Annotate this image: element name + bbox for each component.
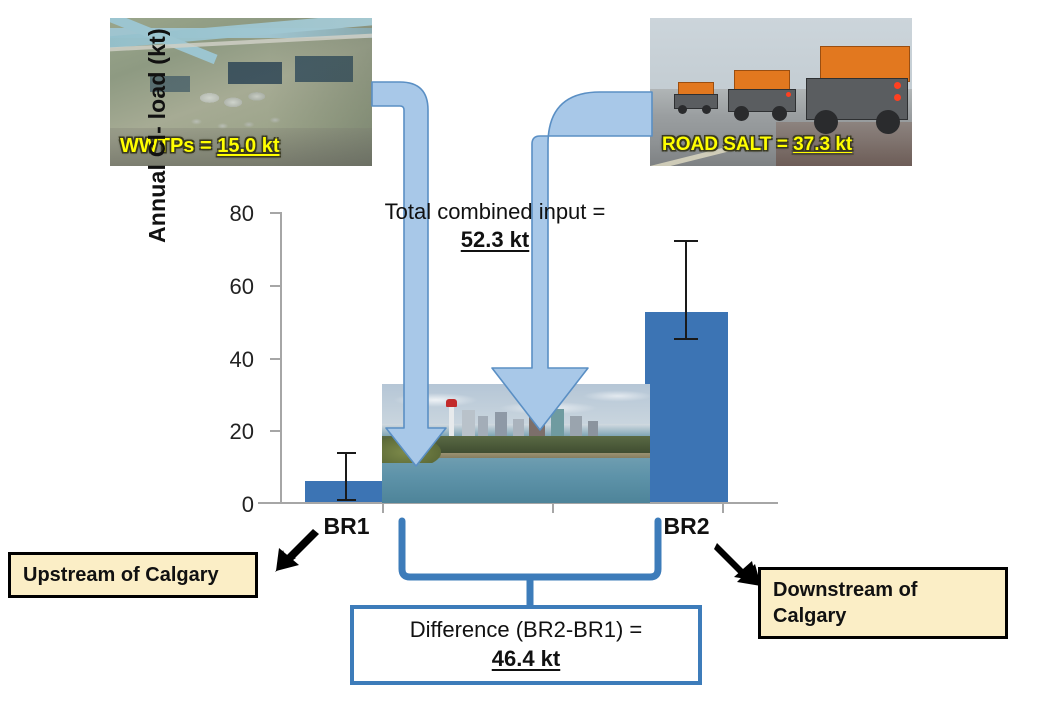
salt-truck-middle [726,70,798,122]
left-foliage-shape [382,436,441,462]
calgary-tower [449,406,454,436]
error-cap-br2-top [674,240,698,242]
calgary-skyline-photo [382,384,650,503]
y-axis-label: Annual Cl- load (kt) [144,23,171,243]
road-salt-caption-prefix: ROAD SALT = [662,134,793,155]
total-combined-input-line1: Total combined input = [330,198,660,226]
error-cap-br1-top [337,452,356,454]
y-tick-label-60: 60 [208,274,254,300]
clouds-shape [382,384,650,424]
downstream-pointer-arrow [712,535,766,589]
downstream-of-calgary-label: Downstream of Calgary [773,577,993,629]
y-axis-line [280,212,282,503]
total-combined-input-note: Total combined input = 52.3 kt [330,198,660,253]
bow-river-water-shape [382,458,650,503]
x-tick-mark-left [382,504,384,513]
building-3 [495,412,507,436]
upstream-of-calgary-label: Upstream of Calgary [23,562,219,588]
downstream-of-calgary-callout: Downstream of Calgary [758,567,1008,639]
building-4 [513,419,524,436]
salt-truck-far [672,80,718,114]
y-tick-label-0: 0 [208,492,254,518]
error-bar-br1 [345,452,347,501]
building-1 [462,410,475,436]
road-salt-caption-value: 37.3 kt [793,134,852,155]
error-bar-br2 [685,240,687,340]
building-7 [570,416,582,436]
y-tick-mark-60 [270,285,280,287]
difference-callout: Difference (BR2-BR1) = 46.4 kt [350,605,702,685]
road-salt-photo: ROAD SALT = 37.3 kt [650,18,912,166]
building-5 [529,402,545,436]
x-tick-mark-right [722,504,724,513]
y-tick-label-80: 80 [208,201,254,227]
difference-value: 46.4 kt [492,645,561,674]
total-combined-input-value: 52.3 kt [330,226,660,254]
x-tick-mark-middle [552,504,554,513]
difference-bracket [380,515,680,615]
building-8 [588,421,598,436]
bar-br2 [645,312,728,502]
difference-line1: Difference (BR2-BR1) = [410,616,643,645]
upstream-pointer-arrow [268,524,322,578]
wwtp-caption-value: 15.0 kt [217,135,279,157]
y-tick-label-20: 20 [208,419,254,445]
road-salt-caption: ROAD SALT = 37.3 kt [662,134,852,156]
building-2 [478,416,488,436]
y-tick-mark-40 [270,358,280,360]
upstream-of-calgary-callout: Upstream of Calgary [8,552,258,598]
y-tick-label-40: 40 [208,347,254,373]
salt-truck-near [802,46,910,136]
building-6 [551,409,564,436]
error-cap-br1-bottom [337,499,356,501]
y-tick-mark-20 [270,430,280,432]
error-cap-br2-bottom [674,338,698,340]
y-tick-mark-80 [270,212,280,214]
